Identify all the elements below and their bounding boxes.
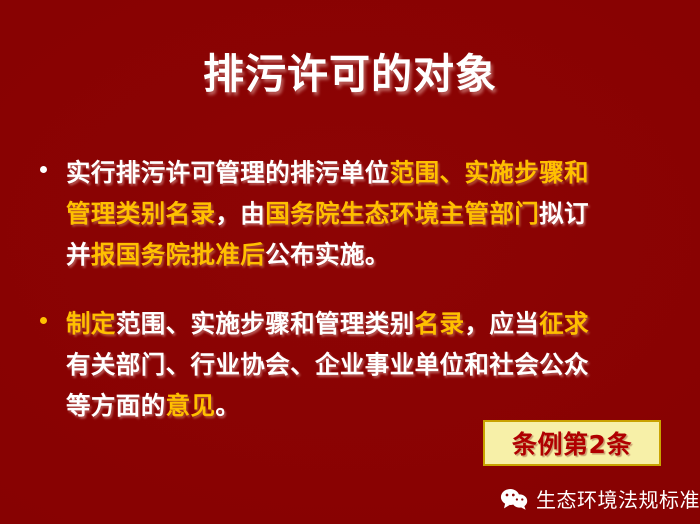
regulation-reference-label: 条例第2条 (512, 425, 632, 461)
text-run: 拟订 (539, 199, 589, 228)
text-run: 并 (66, 240, 91, 269)
wechat-icon (500, 487, 528, 511)
text-run: ，应当 (464, 309, 539, 338)
bullet-line: 有关部门、行业协会、企业事业单位和社会公众 (66, 344, 666, 385)
slide-canvas: 排污许可的对象 实行排污许可管理的排污单位范围、实施步骤和 管理类别名录，由国务… (0, 0, 700, 524)
bullet-line: 并报国务院批准后公布实施。 (66, 234, 666, 275)
text-run: 公布实施。 (265, 240, 390, 269)
bullet-list: 实行排污许可管理的排污单位范围、实施步骤和 管理类别名录，由国务院生态环境主管部… (36, 152, 666, 426)
bullet-marker-icon (40, 166, 47, 173)
text-run-highlight: 制定 (66, 309, 116, 338)
bullet-line: 实行排污许可管理的排污单位范围、实施步骤和 (66, 152, 666, 193)
bullet-marker-icon (40, 317, 47, 324)
text-run-highlight: 范围、实施步骤和 (390, 158, 589, 187)
slide-title: 排污许可的对象 (0, 48, 700, 100)
text-run: 有关部门、行业协会、企业事业单位和社会公众 (66, 350, 589, 379)
bullet-line: 管理类别名录，由国务院生态环境主管部门拟订 (66, 193, 666, 234)
bullet-item: 制定范围、实施步骤和管理类别名录，应当征求 有关部门、行业协会、企业事业单位和社… (36, 303, 666, 426)
text-run: ，由 (215, 199, 265, 228)
text-run-highlight: 意见 (166, 391, 216, 420)
text-run: 等方面的 (66, 391, 166, 420)
text-run-highlight: 名录 (415, 309, 465, 338)
text-run-highlight: 国务院生态环境主管部门 (265, 199, 539, 228)
text-run: 范围、实施步骤和管理类别 (116, 309, 415, 338)
text-run-highlight: 管理类别名录 (66, 199, 215, 228)
regulation-reference-badge: 条例第2条 (483, 420, 661, 466)
footer-watermark: 生态环境法规标准 (500, 484, 700, 513)
text-run-highlight: 征求 (539, 309, 589, 338)
text-run: 。 (215, 391, 240, 420)
bullet-item: 实行排污许可管理的排污单位范围、实施步骤和 管理类别名录，由国务院生态环境主管部… (36, 152, 666, 275)
text-run-highlight: 报国务院批准后 (91, 240, 265, 269)
bullet-line: 制定范围、实施步骤和管理类别名录，应当征求 (66, 303, 666, 344)
text-run: 实行排污许可管理的排污单位 (66, 158, 390, 187)
wechat-account-name: 生态环境法规标准 (536, 484, 700, 513)
